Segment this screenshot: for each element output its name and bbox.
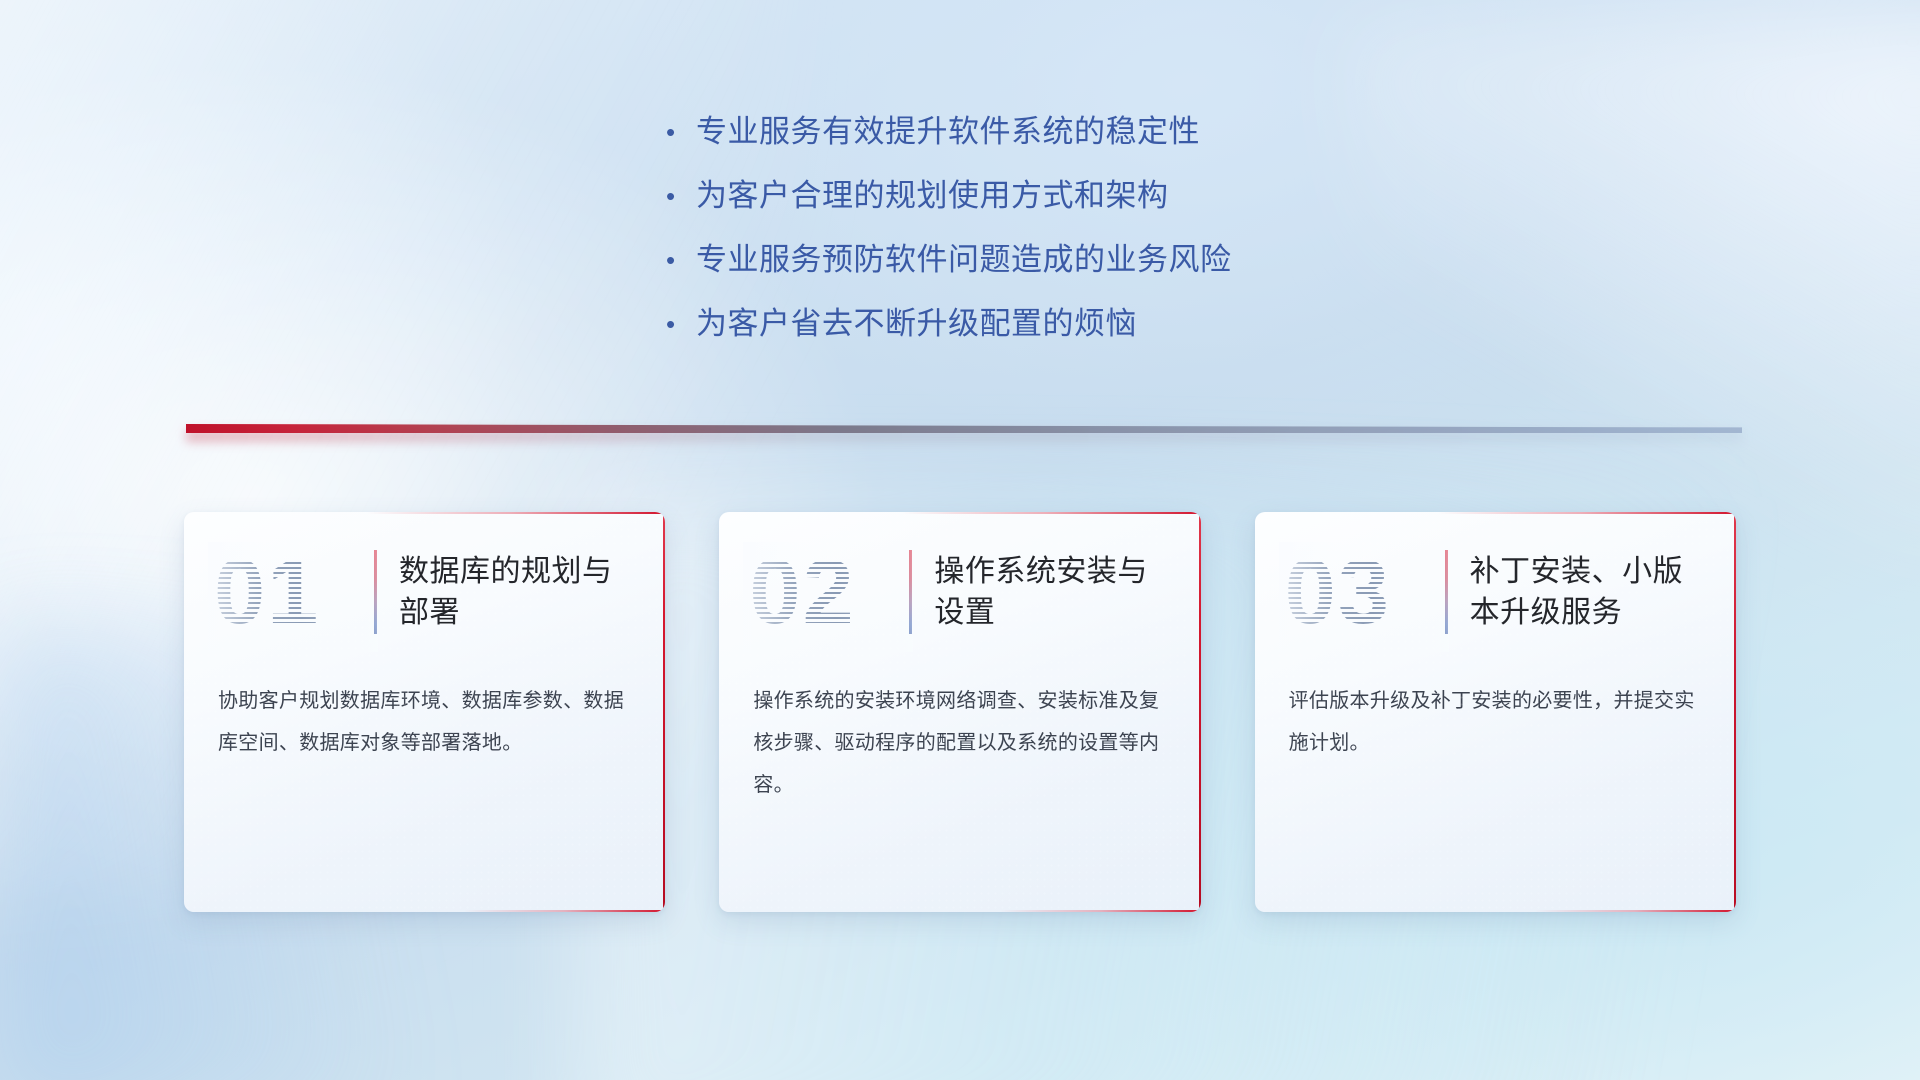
card-divider-bar — [374, 550, 377, 634]
section-divider — [186, 420, 1742, 442]
card-title: 数据库的规划与部署 — [399, 551, 635, 633]
service-card-list: 01 数据库的规划与部署 协助客户规划数据库环境、数据库参数、数据库空间、数据库… — [184, 512, 1736, 922]
card-number: 03 — [1285, 542, 1437, 642]
bullet-item-text: 专业服务预防软件问题造成的业务风险 — [696, 240, 1232, 280]
service-card[interactable]: 01 数据库的规划与部署 协助客户规划数据库环境、数据库参数、数据库空间、数据库… — [184, 512, 665, 912]
bullet-item: • 为客户合理的规划使用方式和架构 — [666, 176, 1486, 240]
benefits-bullet-list: • 专业服务有效提升软件系统的稳定性 • 为客户合理的规划使用方式和架构 • 专… — [666, 112, 1486, 368]
bullet-dot-icon: • — [666, 240, 696, 280]
bullet-item: • 专业服务预防软件问题造成的业务风险 — [666, 240, 1486, 304]
bullet-item-text: 为客户省去不断升级配置的烦恼 — [696, 304, 1137, 344]
card-header: 02 操作系统安装与设置 — [719, 512, 1200, 672]
card-bottom-accent — [1534, 910, 1736, 912]
bullet-item: • 专业服务有效提升软件系统的稳定性 — [666, 112, 1486, 176]
card-title: 操作系统安装与设置 — [934, 551, 1170, 633]
service-card[interactable]: 03 补丁安装、小版本升级服务 评估版本升级及补丁安装的必要性，并提交实施计划。 — [1255, 512, 1736, 912]
card-number: 02 — [749, 542, 901, 642]
bullet-item-text: 为客户合理的规划使用方式和架构 — [696, 176, 1169, 216]
card-title: 补丁安装、小版本升级服务 — [1470, 551, 1706, 633]
card-bottom-accent — [463, 910, 665, 912]
card-header: 01 数据库的规划与部署 — [184, 512, 665, 672]
card-divider-bar — [1445, 550, 1448, 634]
card-body-text: 协助客户规划数据库环境、数据库参数、数据库空间、数据库对象等部署落地。 — [184, 672, 665, 764]
card-header: 03 补丁安装、小版本升级服务 — [1255, 512, 1736, 672]
divider-glow — [186, 430, 1742, 442]
bullet-dot-icon: • — [666, 112, 696, 152]
card-bottom-accent — [999, 910, 1201, 912]
card-divider-bar — [909, 550, 912, 634]
bullet-item: • 为客户省去不断升级配置的烦恼 — [666, 304, 1486, 368]
bullet-dot-icon: • — [666, 176, 696, 216]
bullet-dot-icon: • — [666, 304, 696, 344]
card-body-text: 操作系统的安装环境网络调查、安装标准及复核步骤、驱动程序的配置以及系统的设置等内… — [719, 672, 1200, 806]
card-number: 01 — [214, 542, 366, 642]
bullet-item-text: 专业服务有效提升软件系统的稳定性 — [696, 112, 1200, 152]
service-card[interactable]: 02 操作系统安装与设置 操作系统的安装环境网络调查、安装标准及复核步骤、驱动程… — [719, 512, 1200, 912]
card-body-text: 评估版本升级及补丁安装的必要性，并提交实施计划。 — [1255, 672, 1736, 764]
